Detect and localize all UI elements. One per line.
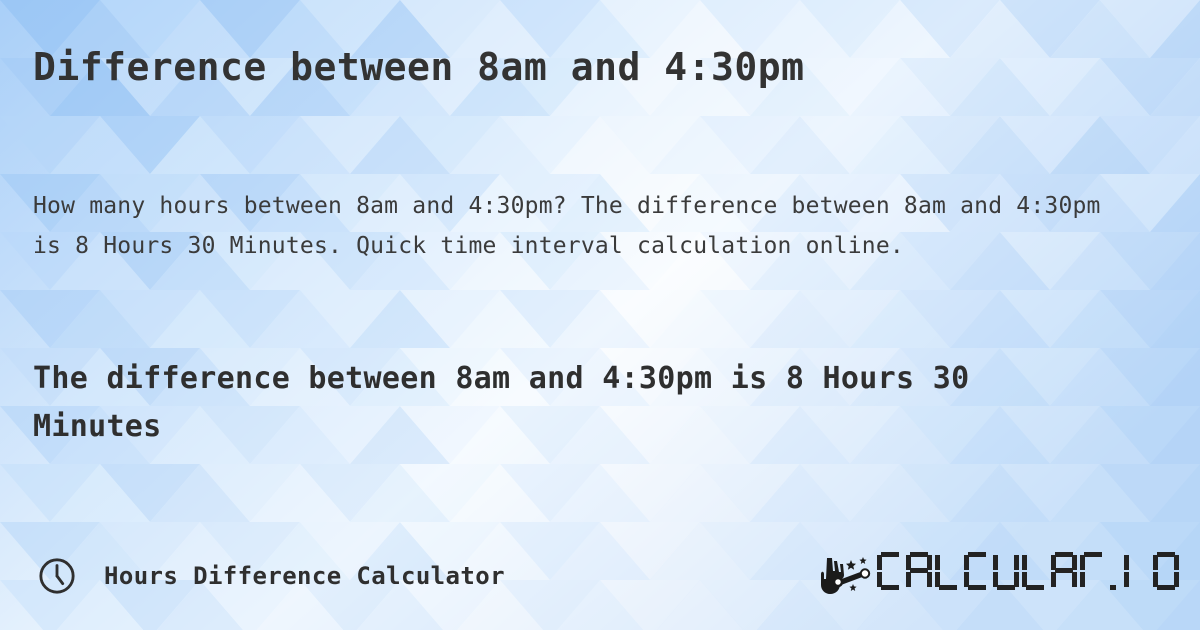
footer-label: Hours Difference Calculator: [104, 562, 505, 590]
brand-glyph-dot: [1109, 552, 1121, 590]
result-heading: The difference between 8am and 4:30pm is…: [33, 355, 1093, 451]
brand-glyph-i: [1124, 552, 1150, 590]
brand-name-segments: [877, 552, 1182, 600]
brand-logo[interactable]: [819, 548, 1182, 604]
footer: Hours Difference Calculator: [0, 548, 1200, 610]
page-description: How many hours between 8am and 4:30pm? T…: [33, 186, 1123, 266]
page-title: Difference between 8am and 4:30pm: [33, 44, 1173, 90]
brand-glyph-c: [964, 552, 990, 590]
brand-glyph-u: [993, 552, 1019, 590]
brand-glyph-c: [877, 552, 903, 590]
brand-glyph-o: [1153, 552, 1179, 590]
brand-glyph-l: [935, 552, 961, 590]
brand-name: [877, 552, 1182, 600]
footer-branding-left[interactable]: Hours Difference Calculator: [38, 548, 505, 604]
brand-glyph-t: [1080, 552, 1106, 590]
og-image-card: Difference between 8am and 4:30pm How ma…: [0, 0, 1200, 630]
brand-glyph-a: [1051, 552, 1077, 590]
magic-wand-hand-icon: [819, 554, 873, 598]
brand-glyph-a: [906, 552, 932, 590]
brand-glyph-l: [1022, 552, 1048, 590]
clock-icon: [38, 557, 76, 595]
